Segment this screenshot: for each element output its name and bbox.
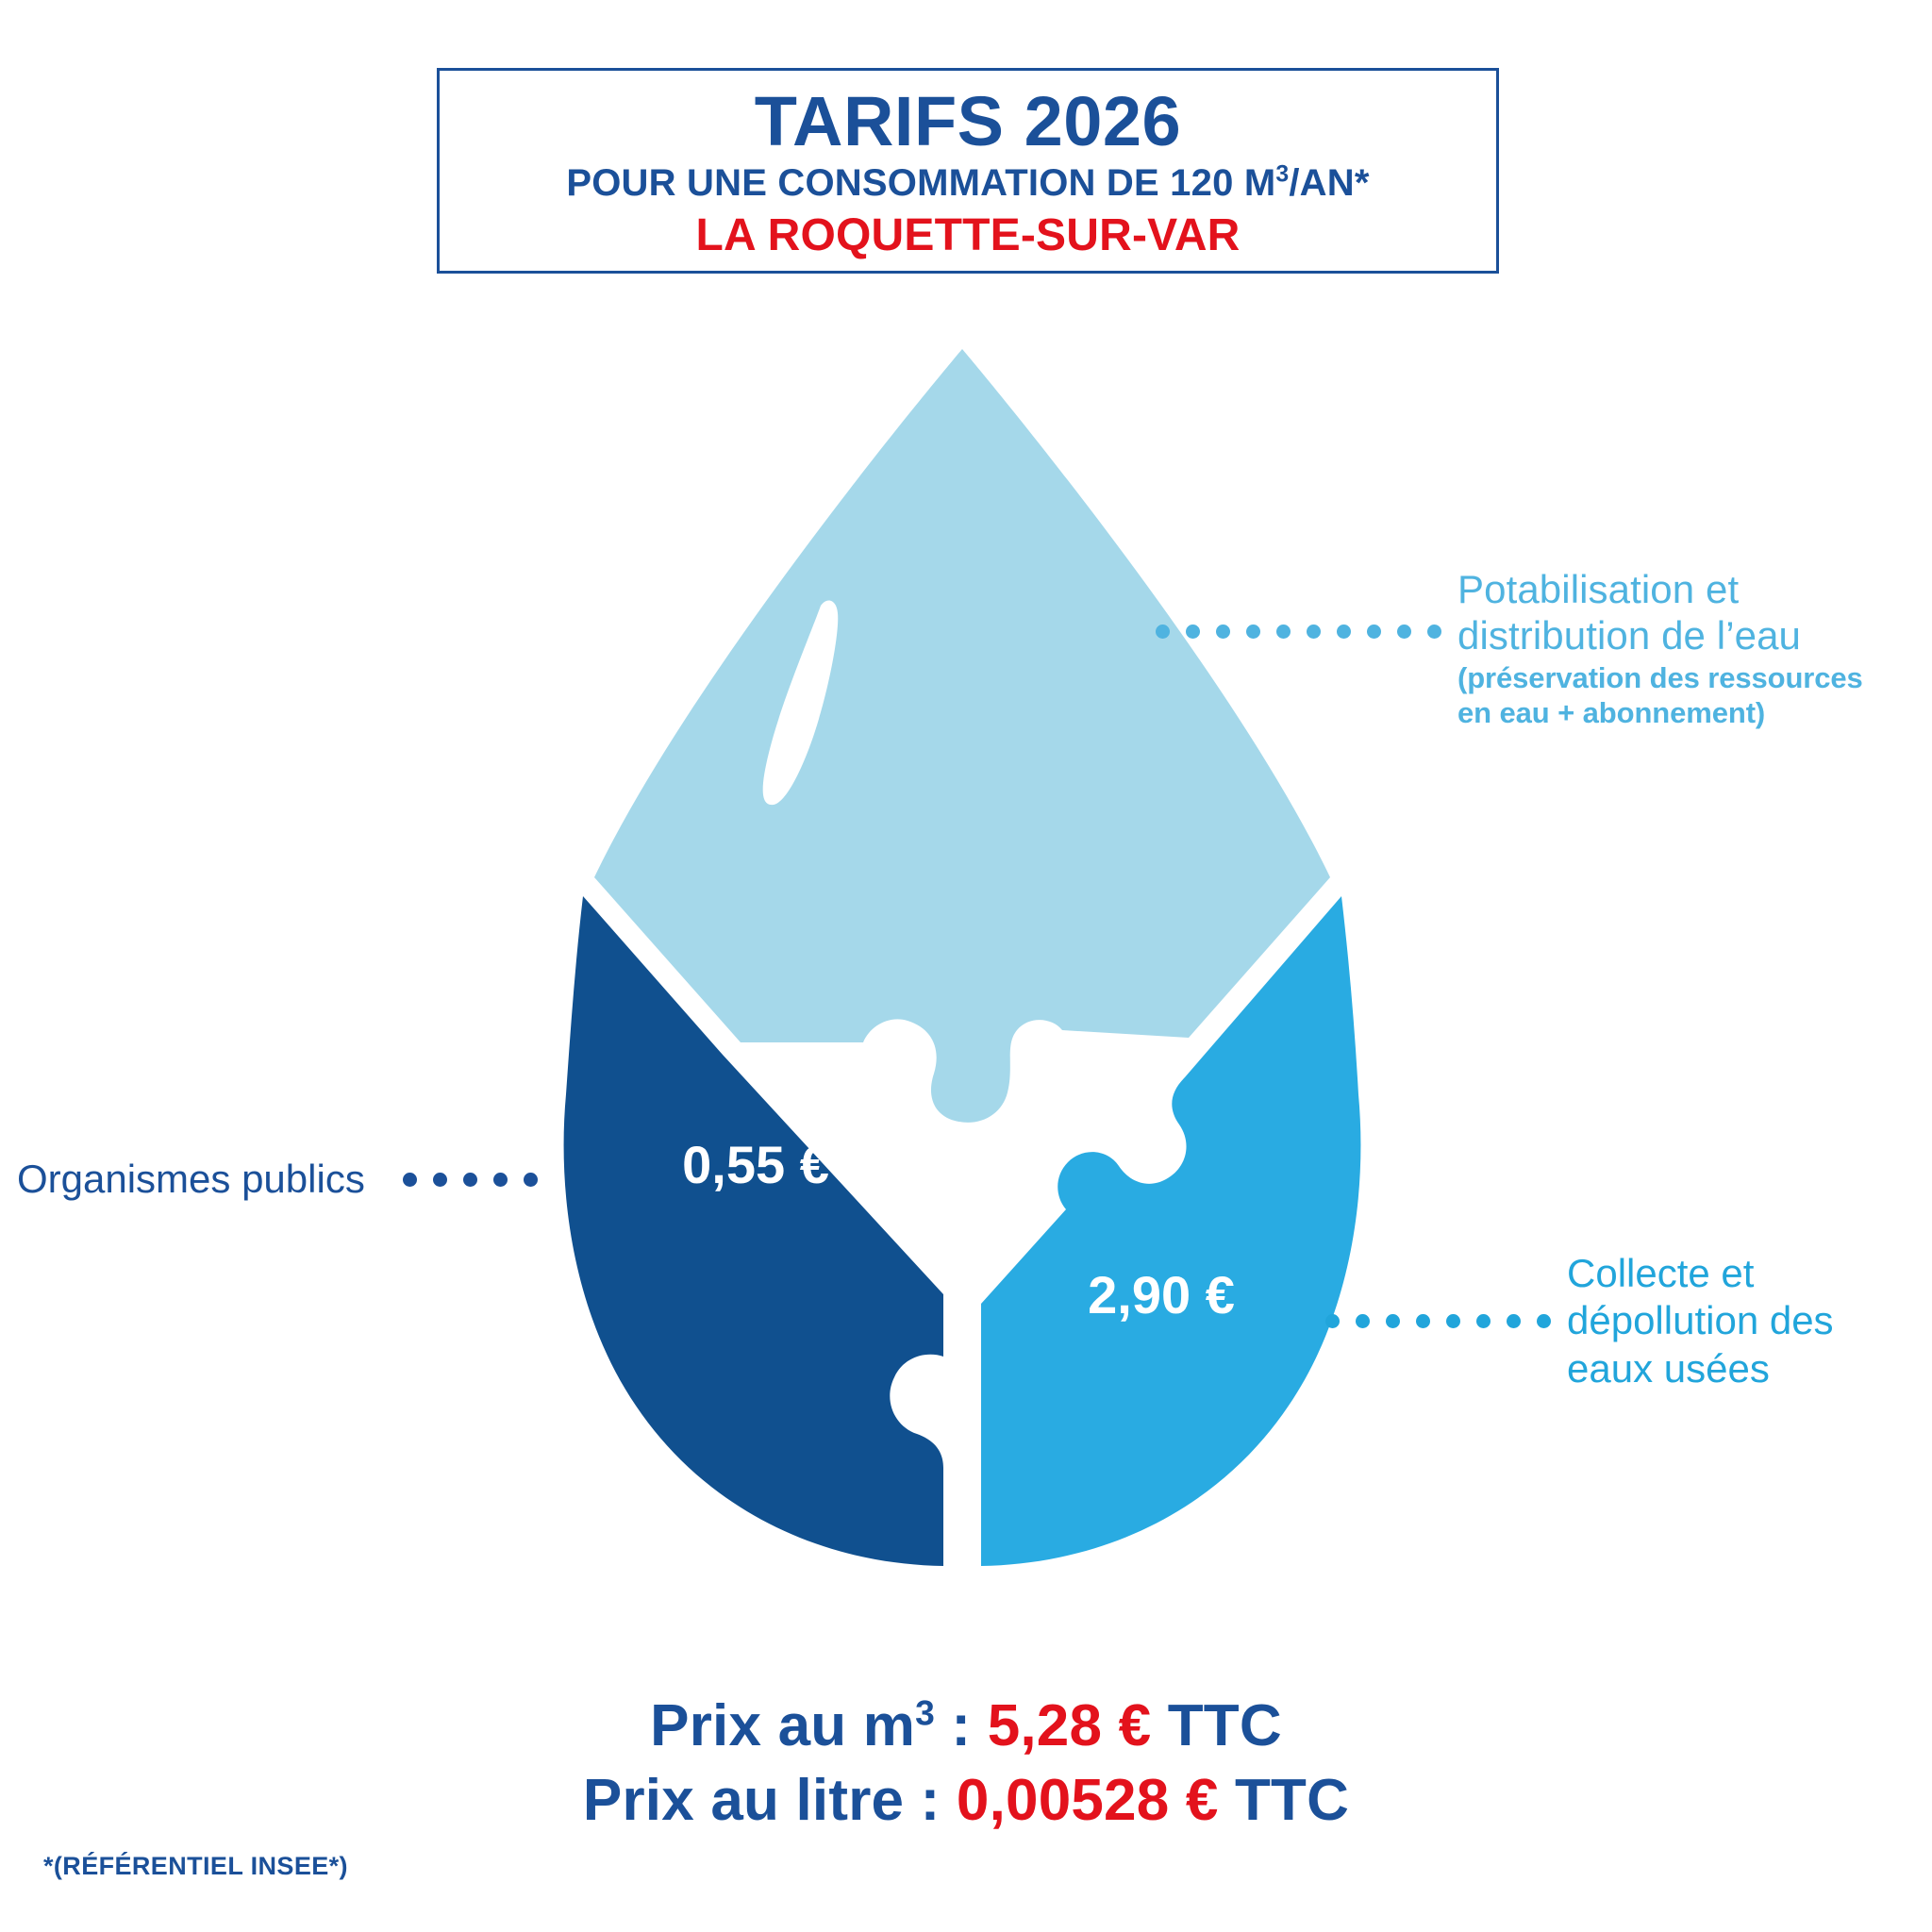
price-m3-separator: :: [935, 1693, 988, 1758]
footnote: *(RÉFÉRENTIEL INSEE*): [43, 1852, 348, 1881]
water-droplet-chart: 1,83 € 0,55 € 2,90 €: [538, 349, 1387, 1575]
segment-value-collecte: 2,90 €: [1088, 1265, 1235, 1324]
leader-dots-collecte-icon: [1325, 1250, 1567, 1328]
price-litre-label: Prix au litre :: [583, 1768, 957, 1833]
price-m3-label: Prix au m: [650, 1693, 915, 1758]
price-per-cubic-meter: Prix au m3 : 5,28 € TTC: [0, 1689, 1932, 1763]
price-summary: Prix au m3 : 5,28 € TTC Prix au litre : …: [0, 1689, 1932, 1839]
callout-organismes: Organismes publics: [17, 1156, 583, 1203]
price-m3-superscript: 3: [915, 1692, 935, 1732]
callout-collecte-text: Collecte et dépollution des eaux usées: [1567, 1250, 1834, 1392]
price-per-litre: Prix au litre : 0,00528 € TTC: [0, 1763, 1932, 1838]
price-litre-amount: 0,00528 €: [957, 1768, 1219, 1833]
city-name: LA ROQUETTE-SUR-VAR: [695, 211, 1240, 261]
subtitle-suffix: /AN*: [1289, 162, 1369, 204]
leader-dots-potabilisation-icon: [1156, 566, 1457, 639]
callout-potabilisation-note1: (préservation des ressources: [1457, 661, 1863, 695]
price-litre-suffix: TTC: [1219, 1768, 1350, 1833]
page-title: TARIFS 2026: [755, 86, 1181, 157]
subtitle-superscript: 3: [1275, 162, 1289, 188]
leader-dots-organismes-icon: [403, 1173, 554, 1187]
segment-value-organismes: 0,55 €: [682, 1135, 829, 1194]
callout-collecte: Collecte et dépollution des eaux usées: [1325, 1250, 1929, 1392]
callout-potabilisation-note2: en eau + abonnement): [1457, 696, 1863, 730]
callout-collecte-line1: Collecte et: [1567, 1250, 1834, 1297]
page-subtitle: POUR UNE CONSOMMATION DE 120 M3/AN*: [566, 162, 1369, 204]
callout-potabilisation: Potabilisation et distribution de l’eau …: [1156, 566, 1910, 730]
price-m3-suffix: TTC: [1151, 1693, 1282, 1758]
price-m3-amount: 5,28 €: [988, 1693, 1152, 1758]
callout-potabilisation-text: Potabilisation et distribution de l’eau …: [1457, 566, 1863, 730]
header-box: TARIFS 2026 POUR UNE CONSOMMATION DE 120…: [437, 68, 1499, 274]
callout-potabilisation-line1: Potabilisation et: [1457, 566, 1863, 612]
segment-potabilisation-shape[interactable]: [594, 349, 1330, 1123]
callout-potabilisation-line2: distribution de l’eau: [1457, 612, 1863, 658]
subtitle-prefix: POUR UNE CONSOMMATION DE 120 M: [566, 162, 1275, 204]
callout-collecte-line3: eaux usées: [1567, 1345, 1834, 1392]
callout-collecte-line2: dépollution des: [1567, 1297, 1834, 1344]
callout-organismes-text: Organismes publics: [17, 1156, 365, 1203]
segment-value-potabilisation: 1,83 €: [684, 469, 831, 528]
